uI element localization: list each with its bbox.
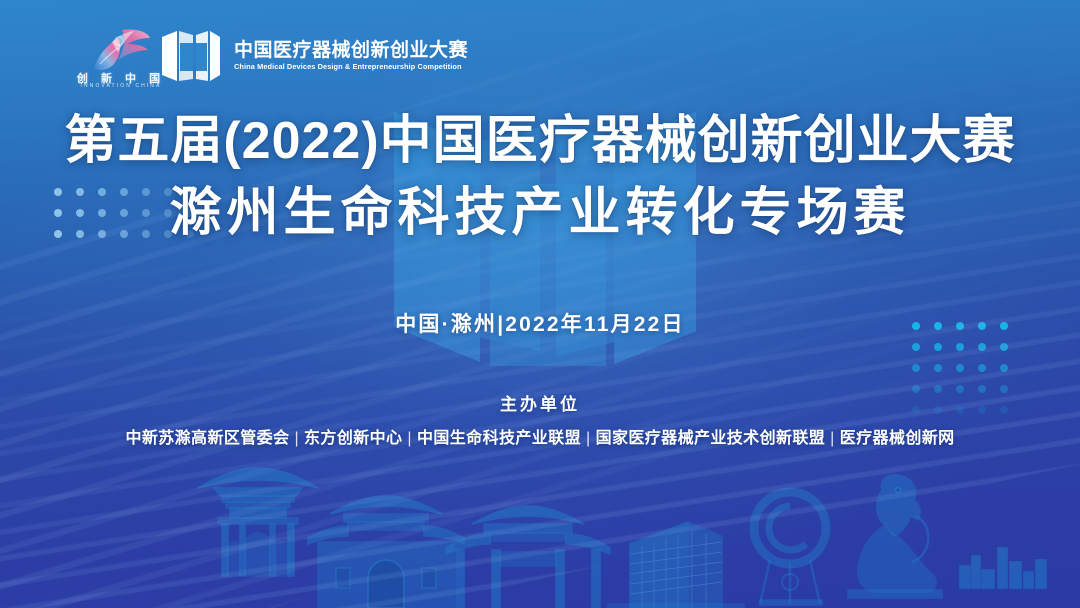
decor-dot — [978, 343, 986, 351]
modern-office-tower-icon — [608, 522, 744, 608]
event-location-date: 中国·滁州|2022年11月22日 — [0, 308, 1080, 338]
city-skyline-icon — [960, 548, 1046, 588]
organizer-separator: | — [581, 430, 596, 447]
poster-header: 创 新 中 国 INNOVATION CHINA — [0, 0, 1080, 100]
organizer-item: 国家医疗器械产业技术创新联盟 — [596, 430, 826, 447]
organizer-item: 东方创新中心 — [304, 430, 402, 447]
main-title-line-1: 第五届(2022)中国医疗器械创新创业大赛 — [0, 112, 1080, 170]
organizers-heading: 主办单位 — [0, 390, 1080, 415]
decor-dot — [956, 364, 964, 372]
decor-dot — [912, 364, 920, 372]
competition-logo: 中国医疗器械创新创业大赛 China Medical Devices Desig… — [160, 24, 469, 88]
decor-dot — [956, 343, 964, 351]
merlion-statue-icon — [848, 475, 942, 598]
organizer-separator: | — [402, 430, 417, 447]
competition-logo-en-name: China Medical Devices Design & Entrepren… — [234, 63, 462, 71]
ring-sculpture-icon — [754, 492, 826, 605]
organizer-item: 医疗器械创新网 — [840, 430, 955, 447]
decor-dot — [912, 343, 920, 351]
poster-titles: 第五届(2022)中国医疗器械创新创业大赛 滁州生命科技产业转化专场赛 — [0, 112, 1080, 242]
decor-dot — [934, 343, 942, 351]
organizers-list: 中新苏滁高新区管委会|东方创新中心|中国生命科技产业联盟|国家医疗器械产业技术创… — [0, 424, 1080, 448]
decor-dot — [1000, 343, 1008, 351]
decor-dot — [934, 364, 942, 372]
skyline-silhouette — [0, 448, 1080, 608]
chinese-paifang-archway-icon — [446, 506, 610, 608]
main-title-line-2: 滁州生命科技产业转化专场赛 — [0, 184, 1080, 242]
chinese-pavilion-icon — [198, 468, 318, 576]
organizer-item: 中国生命科技产业联盟 — [417, 430, 581, 447]
organizer-separator: | — [289, 430, 304, 447]
chinese-city-gate-icon — [308, 496, 464, 608]
event-poster: 创 新 中 国 INNOVATION CHINA — [0, 0, 1080, 608]
organizer-item: 中新苏滁高新区管委会 — [125, 430, 289, 447]
competition-logo-cn-name: 中国医疗器械创新创业大赛 — [234, 41, 469, 60]
open-door-logo-icon — [160, 27, 222, 85]
decor-dot — [978, 364, 986, 372]
organizer-separator: | — [825, 430, 840, 447]
decor-dot — [1000, 364, 1008, 372]
